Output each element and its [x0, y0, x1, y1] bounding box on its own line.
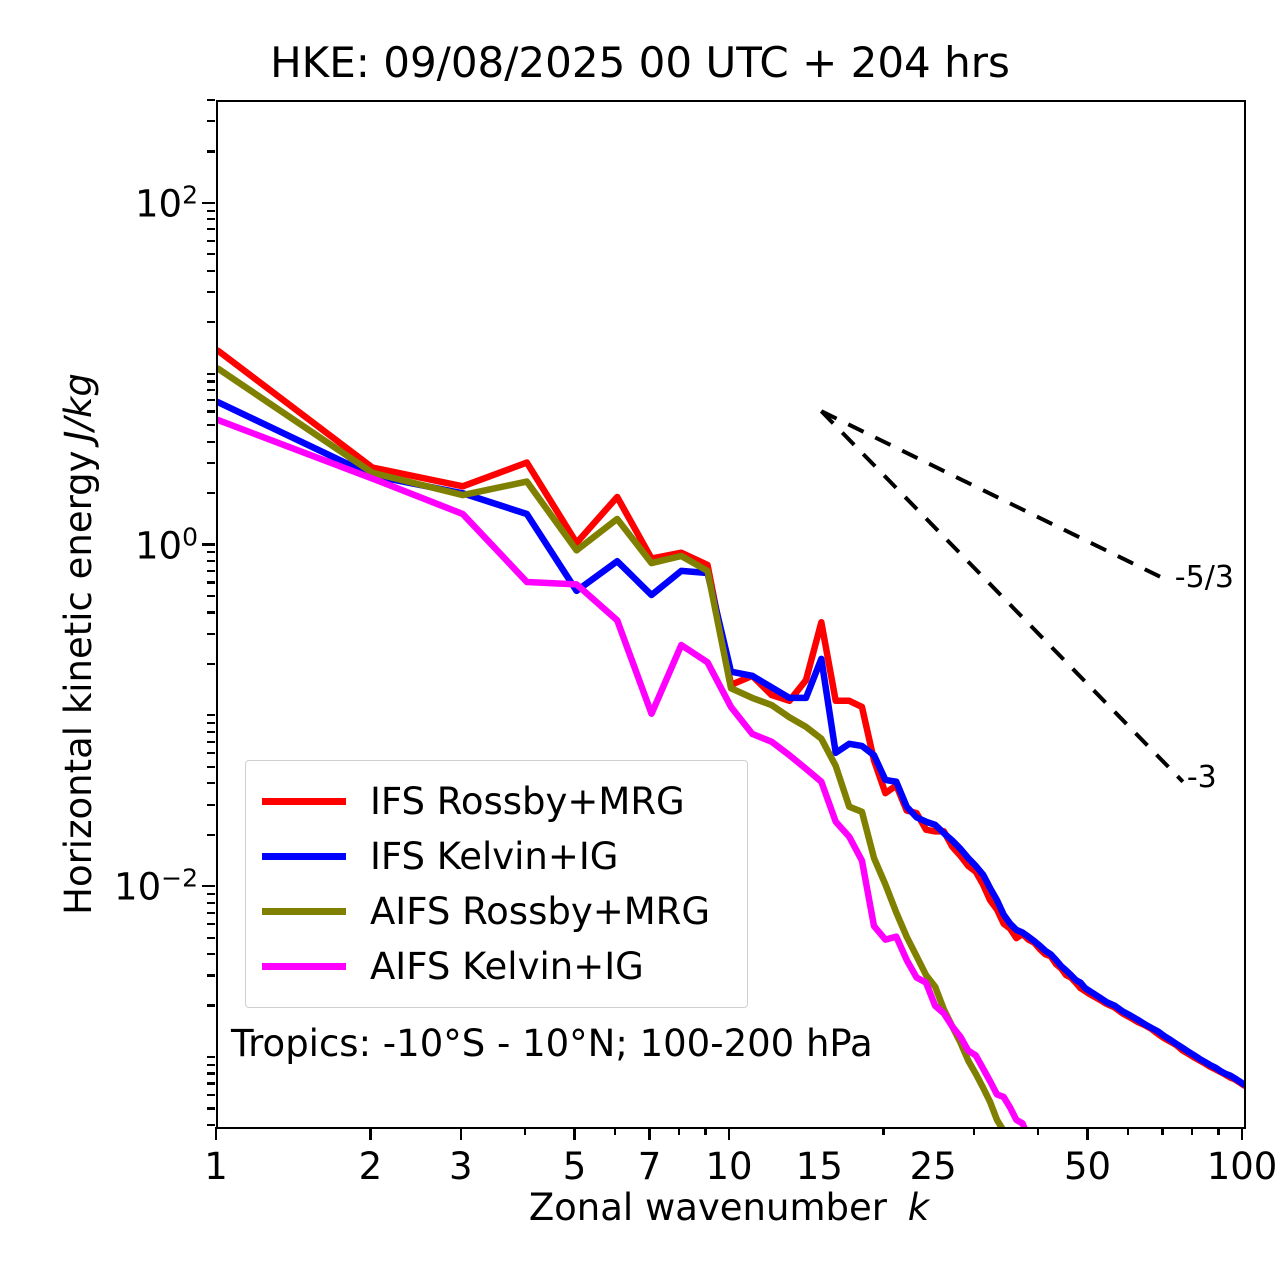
y-tick-mark: [202, 885, 215, 887]
x-tick-mark: [1086, 1127, 1088, 1140]
x-tick-mark: [1037, 1127, 1039, 1135]
y-tick-mark: [207, 380, 215, 382]
y-tick-mark: [207, 595, 215, 597]
y-tick-mark: [207, 210, 215, 212]
y-tick-mark: [207, 974, 215, 976]
x-tick-label: 5: [563, 1145, 587, 1188]
x-tick-mark: [1191, 1127, 1193, 1135]
y-tick-label: 102: [135, 180, 198, 225]
y-tick-mark: [207, 1004, 215, 1006]
y-tick-mark: [207, 1064, 215, 1066]
x-tick-mark: [460, 1127, 462, 1140]
y-tick-mark: [207, 937, 215, 939]
y-tick-mark: [207, 782, 215, 784]
y-tick-mark: [202, 202, 215, 204]
x-axis-label-symbol: k: [908, 1186, 929, 1229]
slope-label-five-thirds: -5/3: [1175, 560, 1234, 595]
x-tick-label: 1: [204, 1145, 228, 1188]
legend-item[interactable]: IFS Rossby+MRG: [246, 774, 747, 829]
x-tick-mark: [369, 1127, 371, 1140]
x-tick-mark: [704, 1127, 706, 1135]
x-tick-label: 15: [796, 1145, 843, 1188]
y-tick-mark: [207, 399, 215, 401]
page-title: HKE: 09/08/2025 00 UTC + 204 hrs: [0, 38, 1280, 87]
legend-item[interactable]: AIFS Rossby+MRG: [246, 884, 747, 939]
reference-line-5-3: [821, 411, 1170, 582]
x-tick-mark: [524, 1127, 526, 1135]
x-tick-label: 25: [910, 1145, 957, 1188]
y-tick-mark: [207, 912, 215, 914]
y-tick-mark: [207, 424, 215, 426]
x-tick-mark: [1127, 1127, 1129, 1135]
legend-item-label: IFS Rossby+MRG: [370, 783, 685, 820]
y-tick-mark: [207, 804, 215, 806]
y-tick-mark: [207, 551, 215, 553]
y-tick-mark: [207, 462, 215, 464]
legend-item-label: AIFS Kelvin+IG: [370, 948, 644, 985]
y-tick-mark: [207, 373, 215, 375]
y-tick-exponent: 2: [182, 180, 198, 209]
y-tick-mark: [207, 150, 215, 152]
legend: IFS Rossby+MRGIFS Kelvin+IGAIFS Rossby+M…: [245, 760, 748, 1008]
y-tick-mark: [207, 953, 215, 955]
x-tick-mark: [614, 1127, 616, 1135]
y-tick-mark: [207, 441, 215, 443]
slope-label-minus-three: -3: [1187, 760, 1217, 795]
legend-item[interactable]: AIFS Kelvin+IG: [246, 939, 747, 994]
y-tick-mark: [207, 1056, 215, 1058]
y-tick-mark: [207, 560, 215, 562]
legend-item-label: AIFS Rossby+MRG: [370, 893, 710, 930]
x-tick-label: 2: [359, 1145, 383, 1188]
y-tick-mark: [207, 218, 215, 220]
y-tick-mark: [207, 581, 215, 583]
region-annotation: Tropics: -10°S - 10°N; 100-200 hPa: [231, 1022, 873, 1065]
legend-color-swatch: [262, 908, 346, 915]
y-tick-mark: [207, 923, 215, 925]
y-tick-exponent: −2: [161, 864, 198, 893]
x-tick-label: 7: [638, 1145, 662, 1188]
x-tick-mark: [973, 1127, 975, 1135]
y-tick-mark: [207, 722, 215, 724]
legend-item[interactable]: IFS Kelvin+IG: [246, 829, 747, 884]
y-tick-mark: [207, 731, 215, 733]
y-tick-mark: [207, 389, 215, 391]
x-tick-mark: [573, 1127, 575, 1140]
y-tick-mark: [207, 291, 215, 293]
x-tick-mark: [215, 1127, 217, 1140]
x-tick-label: 10: [705, 1145, 752, 1188]
y-tick-mark: [207, 253, 215, 255]
y-tick-label: 100: [135, 522, 198, 567]
x-tick-mark: [648, 1127, 650, 1140]
y-tick-mark: [207, 714, 215, 716]
y-tick-label: 10−2: [114, 864, 198, 909]
x-axis-label: Zonal wavenumber k: [216, 1186, 1242, 1229]
y-tick-mark: [202, 543, 215, 545]
y-tick-mark: [207, 270, 215, 272]
y-tick-mark: [207, 240, 215, 242]
x-tick-mark: [678, 1127, 680, 1135]
y-tick-mark: [207, 663, 215, 665]
y-tick-mantissa: 10: [135, 183, 182, 226]
x-tick-label: 50: [1064, 1145, 1111, 1188]
y-tick-exponent: 0: [182, 522, 198, 551]
y-tick-mark: [207, 410, 215, 412]
y-tick-mark: [207, 633, 215, 635]
y-tick-mark: [207, 228, 215, 230]
y-tick-mark: [207, 902, 215, 904]
y-tick-mark: [207, 893, 215, 895]
x-tick-mark: [882, 1127, 884, 1135]
x-tick-mark: [1217, 1127, 1219, 1135]
y-tick-mark: [207, 570, 215, 572]
y-axis-label: Horizontal kinetic energy J/kg: [46, 0, 110, 1288]
legend-color-swatch: [262, 963, 346, 970]
series-curves-group: [218, 351, 1244, 1127]
x-tick-mark: [728, 1127, 730, 1140]
y-tick-mark: [207, 99, 215, 101]
y-axis-label-text: Horizontal kinetic energy: [57, 450, 100, 914]
y-tick-mark: [207, 1124, 215, 1126]
x-tick-mark: [1161, 1127, 1163, 1135]
y-tick-mark: [207, 834, 215, 836]
y-tick-mark: [207, 752, 215, 754]
x-tick-label: 3: [449, 1145, 473, 1188]
y-tick-mark: [207, 492, 215, 494]
y-tick-mantissa: 10: [114, 866, 161, 909]
x-tick-mark: [1241, 1127, 1243, 1140]
y-tick-mantissa: 10: [135, 524, 182, 567]
y-tick-mark: [207, 741, 215, 743]
legend-color-swatch: [262, 853, 346, 860]
reference-lines-group: [821, 411, 1183, 782]
x-tick-label: 100: [1207, 1145, 1278, 1188]
y-tick-mark: [207, 1107, 215, 1109]
y-tick-mark: [207, 120, 215, 122]
y-tick-mark: [207, 766, 215, 768]
y-axis-label-unit: J/kg: [57, 373, 100, 441]
y-tick-mark: [207, 321, 215, 323]
y-tick-mark: [207, 1094, 215, 1096]
legend-item-label: IFS Kelvin+IG: [370, 838, 618, 875]
x-axis-label-text: Zonal wavenumber: [529, 1186, 887, 1229]
legend-color-swatch: [262, 798, 346, 805]
y-tick-mark: [207, 1082, 215, 1084]
reference-line-3: [821, 411, 1183, 782]
figure-canvas: HKE: 09/08/2025 00 UTC + 204 hrs Horizon…: [0, 0, 1280, 1288]
y-tick-mark: [207, 611, 215, 613]
y-tick-mark: [207, 1072, 215, 1074]
